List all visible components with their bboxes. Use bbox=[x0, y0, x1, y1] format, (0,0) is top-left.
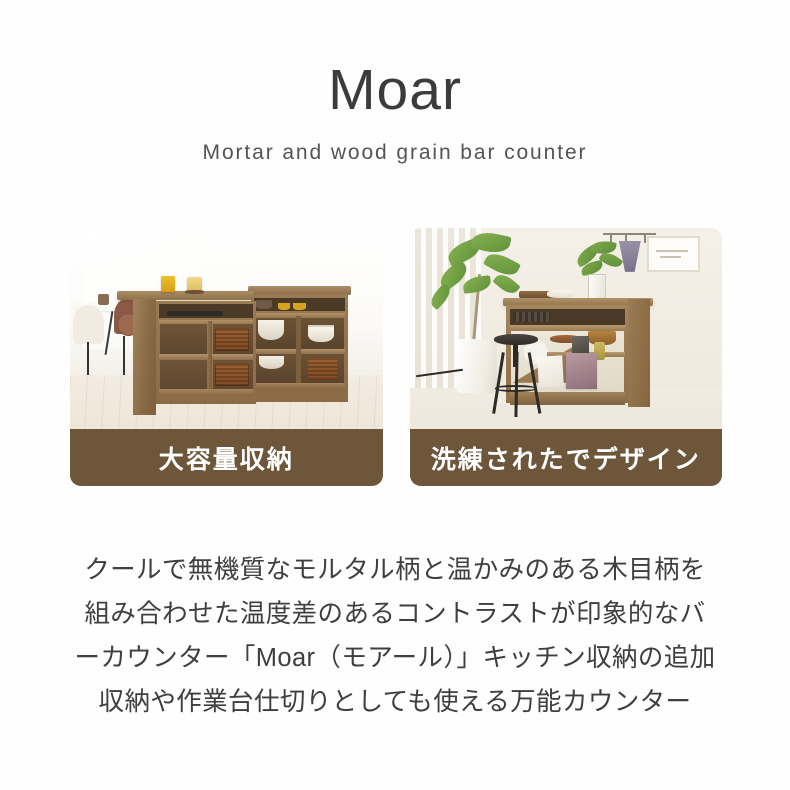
stored-books bbox=[513, 312, 551, 322]
stool-footrest bbox=[495, 385, 536, 391]
rattan-basket bbox=[308, 358, 338, 380]
chair-white bbox=[73, 305, 104, 344]
wall-art-frame bbox=[647, 236, 700, 272]
hook-icon bbox=[644, 233, 646, 243]
display-card bbox=[537, 355, 564, 387]
stored-item bbox=[167, 311, 223, 317]
feature-card-design[interactable]: 洗練されたでデザイン bbox=[410, 228, 723, 486]
product-description: クールで無機質なモルタル柄と温かみのある木目柄を 組み合わせた温度差のあるコント… bbox=[0, 548, 790, 724]
stacked-plates bbox=[547, 290, 575, 298]
chair-leg bbox=[123, 336, 125, 375]
ceramic-bowl bbox=[258, 320, 285, 341]
stool-seat bbox=[494, 334, 538, 345]
product-feature-page: Moar Mortar and wood grain bar counter bbox=[0, 0, 790, 790]
shelf-board bbox=[510, 325, 626, 331]
ceramic-plate bbox=[259, 356, 284, 369]
description-line: 収納や作業台仕切りとしても使える万能カウンター bbox=[0, 680, 790, 724]
description-line: 組み合わせた温度差のあるコントラストが印象的なバ bbox=[0, 592, 790, 636]
pot-on-shelf bbox=[256, 300, 272, 309]
description-line: ーカウンター「Moar（モアール）」キッチン収納の追加 bbox=[0, 636, 790, 680]
cup-on-table bbox=[98, 294, 109, 305]
rattan-basket bbox=[215, 328, 249, 352]
wing-shelf-divider bbox=[296, 316, 300, 386]
page-header: Moar Mortar and wood grain bar counter bbox=[0, 0, 790, 165]
base-board bbox=[510, 392, 626, 405]
feature-card-caption: 大容量収納 bbox=[70, 429, 383, 486]
mug-yellow bbox=[161, 276, 175, 292]
wall-art-line bbox=[656, 250, 687, 252]
shelf-divider bbox=[208, 321, 213, 391]
description-line: クールで無機質なモルタル柄と温かみのある木目柄を bbox=[0, 548, 790, 592]
display-magazine bbox=[566, 353, 597, 389]
counter-side-panel bbox=[133, 299, 156, 415]
wall-art-line bbox=[660, 256, 682, 258]
yellow-bowl bbox=[293, 303, 306, 310]
yellow-bowl bbox=[278, 303, 291, 310]
ceramic-bowl bbox=[308, 325, 335, 342]
shelf-cell bbox=[160, 360, 207, 389]
counter-side-panel bbox=[628, 299, 650, 407]
plant-pot bbox=[456, 339, 497, 393]
chair-leg bbox=[87, 342, 89, 376]
page-subtitle: Mortar and wood grain bar counter bbox=[0, 141, 790, 165]
feature-card-caption: 洗練されたでデザイン bbox=[410, 429, 723, 486]
wing-base-board bbox=[254, 383, 345, 389]
page-title: Moar bbox=[0, 58, 790, 124]
shelf-cell bbox=[160, 324, 207, 353]
rattan-basket bbox=[215, 363, 249, 387]
feature-card-storage[interactable]: 大容量収納 bbox=[70, 228, 383, 486]
base-board bbox=[159, 389, 253, 396]
mug-coaster bbox=[185, 290, 204, 293]
stool-post bbox=[513, 342, 519, 368]
feature-card-list: 大容量収納 bbox=[70, 228, 722, 486]
